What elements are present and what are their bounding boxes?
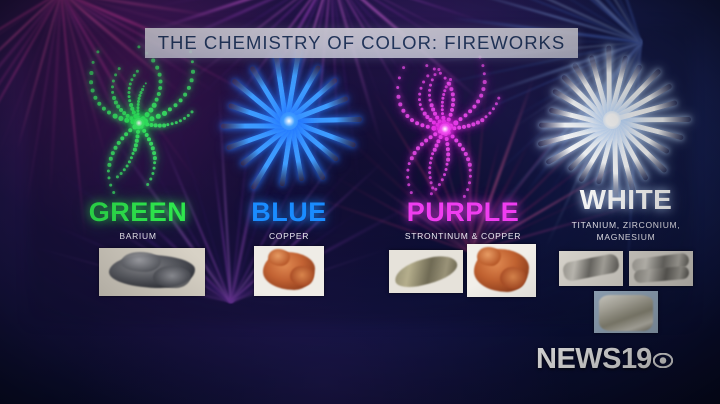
firework-burst-white <box>611 119 613 121</box>
firework-burst-blue <box>288 120 290 122</box>
color-name-white: WHITE <box>541 186 711 214</box>
firework-burst-purple <box>444 128 446 130</box>
specimen-magnesium <box>594 291 658 333</box>
firework-burst-green <box>138 122 140 124</box>
specimen-copper-purple <box>467 244 536 297</box>
specimen-copper-blue <box>254 246 324 296</box>
element-name-titanium-zirconium-magnesium-line1: TITANIUM, ZIRCONIUM, <box>541 220 711 231</box>
element-name-strontium-copper: STRONTINUM & COPPER <box>373 231 553 242</box>
column-green: GREEN BARIUM <box>58 199 218 242</box>
specimen-strontium <box>389 250 463 293</box>
page-title: THE CHEMISTRY OF COLOR: FIREWORKS <box>158 32 566 54</box>
column-blue: BLUE COPPER <box>209 199 369 242</box>
title-banner: THE CHEMISTRY OF COLOR: FIREWORKS <box>145 28 578 58</box>
column-purple: PURPLE STRONTINUM & COPPER <box>373 199 553 242</box>
infographic-canvas: THE CHEMISTRY OF COLOR: FIREWORKS GREEN … <box>0 0 720 404</box>
color-name-purple: PURPLE <box>373 199 553 226</box>
specimen-barium <box>99 248 205 296</box>
element-name-barium: BARIUM <box>58 231 218 242</box>
specimen-zirconium <box>629 251 693 286</box>
element-name-copper: COPPER <box>209 231 369 242</box>
cbs-eye-icon <box>653 353 673 373</box>
logo-news-text: NEWS <box>536 343 621 376</box>
column-white: WHITE TITANIUM, ZIRCONIUM, MAGNESIUM <box>541 186 711 242</box>
specimen-titanium <box>559 251 623 286</box>
color-name-green: GREEN <box>58 199 218 226</box>
color-name-blue: BLUE <box>209 199 369 226</box>
logo-channel-number: 19 <box>621 343 651 376</box>
element-name-titanium-zirconium-magnesium-line2: MAGNESIUM <box>541 232 711 243</box>
news19-logo: NEWS 19 <box>536 342 696 376</box>
